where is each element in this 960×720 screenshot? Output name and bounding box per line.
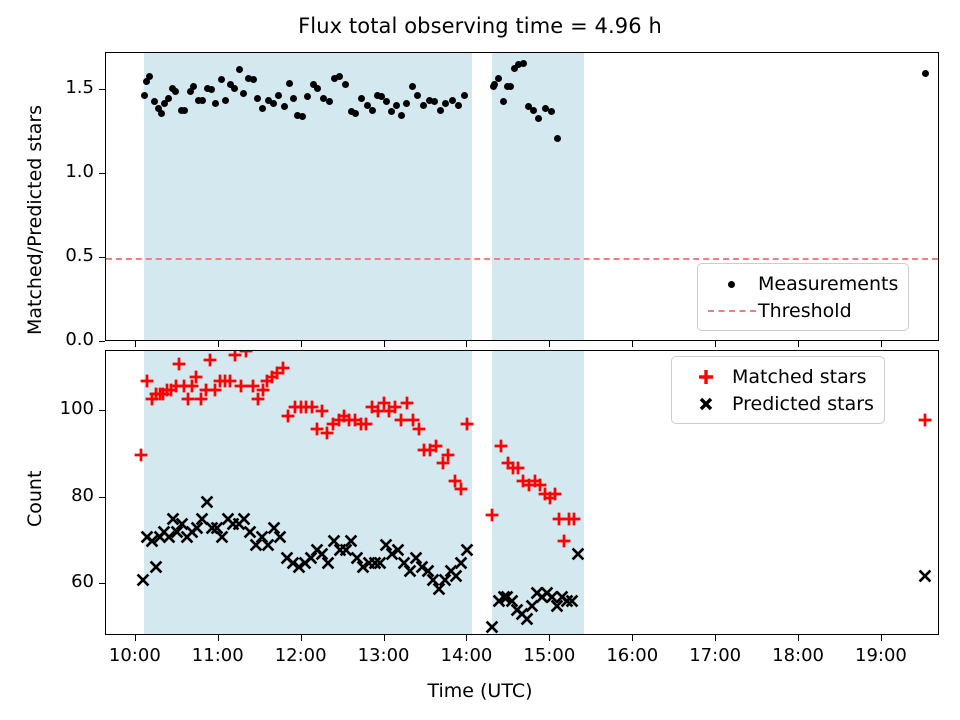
data-point-predicted-star: [346, 550, 347, 551]
data-point-measurement: [212, 100, 219, 107]
data-point-measurement: [455, 102, 462, 109]
data-point-matched-star: [401, 420, 402, 421]
data-point-measurement: [181, 107, 188, 114]
data-point-matched-star: [559, 519, 560, 520]
data-point-predicted-star: [328, 563, 329, 564]
data-point-predicted-star: [578, 554, 579, 555]
y-axis-tick-label: 1.5: [14, 77, 94, 98]
data-point-matched-star: [141, 455, 142, 456]
data-point-measurement: [158, 110, 165, 117]
y-axis-tick: [99, 173, 105, 174]
data-point-predicted-star: [445, 580, 446, 581]
data-point-predicted-star: [177, 532, 178, 533]
data-point-matched-star: [327, 433, 328, 434]
data-point-predicted-star: [280, 537, 281, 538]
cross-marker-icon: [680, 393, 732, 415]
data-point-measurement: [548, 108, 555, 115]
data-point-matched-star: [230, 381, 231, 382]
threshold-line: [106, 258, 938, 260]
x-axis-tick: [218, 635, 219, 641]
threshold-line-icon: [706, 300, 758, 322]
x-axis-tick-label: 10:00: [95, 645, 175, 666]
x-axis-tick-label: 11:00: [178, 645, 258, 666]
data-point-matched-star: [188, 399, 189, 400]
y-axis-tick-label: 60: [14, 571, 94, 592]
data-point-measurement: [199, 97, 206, 104]
data-point-matched-star: [518, 468, 519, 469]
x-axis-tick: [466, 635, 467, 641]
measurements-marker-icon: [706, 273, 758, 295]
x-axis-tick: [632, 341, 633, 347]
chart-title: Flux total observing time = 4.96 h: [0, 14, 960, 38]
y-axis-tick: [99, 89, 105, 90]
x-axis-label: Time (UTC): [0, 680, 960, 702]
data-point-matched-star: [448, 455, 449, 456]
data-point-matched-star: [283, 368, 284, 369]
x-axis-tick: [384, 635, 385, 641]
data-point-matched-star: [378, 411, 379, 412]
data-point-matched-star: [574, 519, 575, 520]
legend-label-threshold: Threshold: [758, 300, 852, 322]
data-point-predicted-star: [256, 545, 257, 546]
data-point-measurement: [286, 80, 293, 87]
x-axis-tick: [881, 341, 882, 347]
x-axis-tick: [135, 341, 136, 347]
legend-item-predicted-stars[interactable]: Predicted stars: [680, 390, 874, 417]
x-axis-tick: [549, 635, 550, 641]
data-point-predicted-star: [182, 524, 183, 525]
data-point-predicted-star: [557, 606, 558, 607]
y-axis-tick: [99, 341, 105, 342]
x-axis-tick: [218, 341, 219, 347]
data-point-matched-star: [419, 429, 420, 430]
data-point-matched-star: [322, 411, 323, 412]
data-point-measurement: [398, 112, 405, 119]
data-point-matched-star: [258, 399, 259, 400]
y-axis-tick: [99, 257, 105, 258]
data-point-measurement: [240, 90, 247, 97]
x-axis-tick: [632, 635, 633, 641]
data-point-matched-star: [366, 424, 367, 425]
x-axis-tick-label: 17:00: [675, 645, 755, 666]
x-axis-tick: [301, 341, 302, 347]
y-axis-tick-label: 100: [14, 398, 94, 419]
legend-item-matched-stars[interactable]: Matched stars: [680, 363, 874, 390]
data-point-predicted-star: [925, 576, 926, 577]
data-point-predicted-star: [532, 606, 533, 607]
data-point-measurement: [290, 95, 297, 102]
data-point-matched-star: [461, 489, 462, 490]
data-point-predicted-star: [410, 571, 411, 572]
x-axis-tick: [384, 341, 385, 347]
data-point-matched-star: [492, 515, 493, 516]
data-point-measurement: [141, 92, 148, 99]
x-axis-tick: [798, 635, 799, 641]
data-point-matched-star: [317, 429, 318, 430]
data-point-measurement: [275, 92, 282, 99]
x-axis-tick: [798, 341, 799, 347]
x-axis-tick: [881, 635, 882, 641]
figure-root: Flux total observing time = 4.96 h 0.00.…: [0, 0, 960, 720]
data-point-measurement: [314, 85, 321, 92]
data-point-measurement: [326, 98, 333, 105]
legend-label-matched-stars: Matched stars: [732, 366, 866, 388]
data-point-measurement: [922, 70, 929, 77]
ratio-panel-legend[interactable]: Measurements Threshold: [697, 263, 909, 331]
ratio-panel-y-axis-label: Matched/Predicted stars: [24, 105, 46, 335]
x-axis-tick-label: 13:00: [344, 645, 424, 666]
legend-item-measurements[interactable]: Measurements: [706, 270, 898, 297]
data-point-measurement: [431, 98, 438, 105]
x-axis-tick: [715, 635, 716, 641]
data-point-matched-star: [215, 390, 216, 391]
data-point-predicted-star: [244, 519, 245, 520]
data-point-matched-star: [192, 386, 193, 387]
data-point-measurement: [388, 108, 395, 115]
x-axis-tick: [466, 341, 467, 347]
data-point-matched-star: [179, 364, 180, 365]
data-point-measurement: [530, 107, 537, 114]
data-point-predicted-star: [351, 541, 352, 542]
data-point-predicted-star: [197, 528, 198, 529]
x-axis-tick-label: 19:00: [841, 645, 921, 666]
data-point-measurement: [403, 100, 410, 107]
x-axis-tick-label: 15:00: [509, 645, 589, 666]
x-axis-tick-label: 12:00: [261, 645, 341, 666]
legend-label-predicted-stars: Predicted stars: [732, 393, 874, 415]
data-point-matched-star: [201, 399, 202, 400]
data-point-matched-star: [436, 446, 437, 447]
data-point-measurement: [352, 110, 359, 117]
data-point-predicted-star: [156, 567, 157, 568]
data-point-measurement: [500, 98, 507, 105]
data-point-matched-star: [235, 355, 236, 356]
data-point-matched-star: [501, 446, 502, 447]
data-point-measurement: [281, 103, 288, 110]
data-point-measurement: [231, 85, 238, 92]
data-point-matched-star: [196, 377, 197, 378]
shaded-observation-span: [492, 53, 583, 340]
data-point-predicted-star: [268, 545, 269, 546]
data-point-measurement: [383, 98, 390, 105]
count-panel-y-axis-label: Count: [24, 470, 46, 526]
data-point-matched-star: [564, 541, 565, 542]
data-point-predicted-star: [456, 576, 457, 577]
data-point-predicted-star: [202, 519, 203, 520]
data-point-measurement: [414, 92, 421, 99]
data-point-predicted-star: [527, 619, 528, 620]
data-point-matched-star: [925, 420, 926, 421]
data-point-matched-star: [312, 407, 313, 408]
data-point-matched-star: [395, 407, 396, 408]
data-point-measurement: [520, 60, 527, 67]
data-point-matched-star: [263, 390, 264, 391]
data-point-predicted-star: [380, 563, 381, 564]
data-point-matched-star: [147, 381, 148, 382]
x-axis-tick: [715, 341, 716, 347]
data-point-measurement: [270, 100, 277, 107]
data-point-predicted-star: [398, 550, 399, 551]
data-point-measurement: [393, 102, 400, 109]
x-axis-tick: [549, 341, 550, 347]
data-point-matched-star: [241, 386, 242, 387]
data-point-measurement: [254, 95, 261, 102]
data-point-measurement: [358, 95, 365, 102]
legend-label-measurements: Measurements: [758, 273, 898, 295]
x-axis-tick-label: 14:00: [426, 645, 506, 666]
x-axis-tick: [135, 635, 136, 641]
y-axis-tick: [99, 410, 105, 411]
count-panel-legend[interactable]: Matched stars Predicted stars: [671, 356, 885, 424]
data-point-predicted-star: [207, 502, 208, 503]
data-point-measurement: [222, 97, 229, 104]
data-point-matched-star: [246, 351, 247, 352]
data-point-predicted-star: [143, 580, 144, 581]
y-axis-tick: [99, 583, 105, 584]
data-point-matched-star: [555, 494, 556, 495]
data-point-predicted-star: [222, 537, 223, 538]
data-point-predicted-star: [467, 550, 468, 551]
data-point-predicted-star: [250, 532, 251, 533]
plus-marker-icon: [680, 366, 732, 388]
data-point-matched-star: [407, 403, 408, 404]
y-axis-tick: [99, 497, 105, 498]
data-point-matched-star: [467, 424, 468, 425]
data-point-matched-star: [210, 360, 211, 361]
data-point-measurement: [165, 95, 172, 102]
data-point-matched-star: [443, 463, 444, 464]
data-point-predicted-star: [492, 627, 493, 628]
legend-item-threshold[interactable]: Threshold: [706, 297, 898, 324]
data-point-predicted-star: [572, 601, 573, 602]
data-point-predicted-star: [439, 589, 440, 590]
data-point-predicted-star: [311, 558, 312, 559]
data-point-matched-star: [253, 386, 254, 387]
data-point-predicted-star: [461, 563, 462, 564]
data-point-measurement: [461, 92, 468, 99]
x-axis-tick: [301, 635, 302, 641]
data-point-matched-star: [288, 416, 289, 417]
x-axis-tick-label: 18:00: [758, 645, 838, 666]
x-axis-tick-label: 16:00: [592, 645, 672, 666]
